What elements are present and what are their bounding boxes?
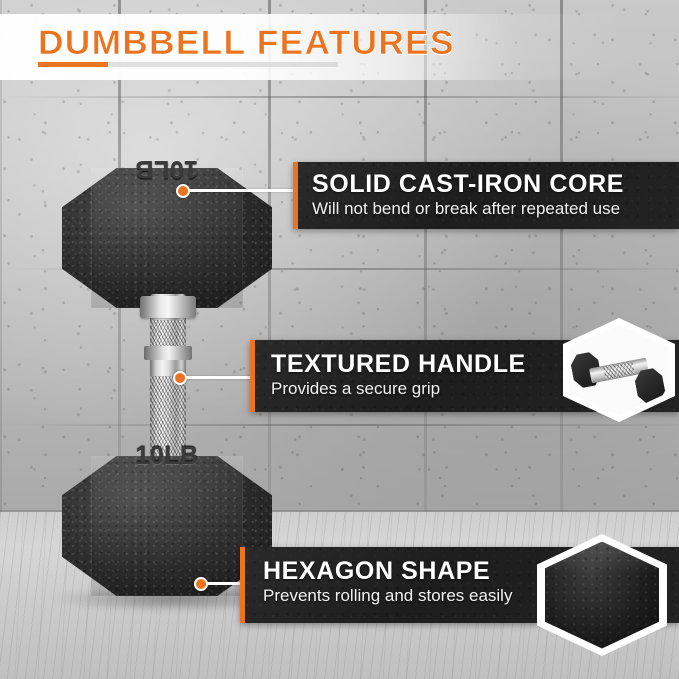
callout-leader-line-handle [185, 376, 253, 379]
handle-flange [140, 296, 196, 318]
mini-dumbbell-horizontal [570, 325, 668, 416]
infographic-canvas: DUMBBELL FEATURES 10LB 10LB [0, 0, 679, 679]
callout-solid-cast-iron-core: SOLID CAST-IRON CORE Will not bend or br… [293, 162, 679, 229]
weight-label-bottom: 10LB [135, 442, 198, 471]
wall-seam-horizontal [0, 96, 679, 98]
inset-handle-photo [570, 325, 668, 416]
callout-leader-line-core [188, 189, 296, 192]
callout-subtitle: Will not bend or break after repeated us… [312, 199, 679, 219]
weight-label-top: 10LB [135, 154, 198, 183]
mini-handle-knurling [603, 361, 635, 379]
handle-knurling [150, 320, 186, 346]
inset-hexagon-photo [545, 542, 659, 649]
callout-title: SOLID CAST-IRON CORE [312, 170, 679, 199]
callout-leader-line-hexagon [206, 582, 244, 585]
handle-collar [144, 346, 192, 360]
hexagon-texture [545, 542, 659, 649]
hex-bevel [91, 456, 242, 596]
title-underline-rule [38, 62, 679, 67]
page-title: DUMBBELL FEATURES [38, 24, 455, 63]
